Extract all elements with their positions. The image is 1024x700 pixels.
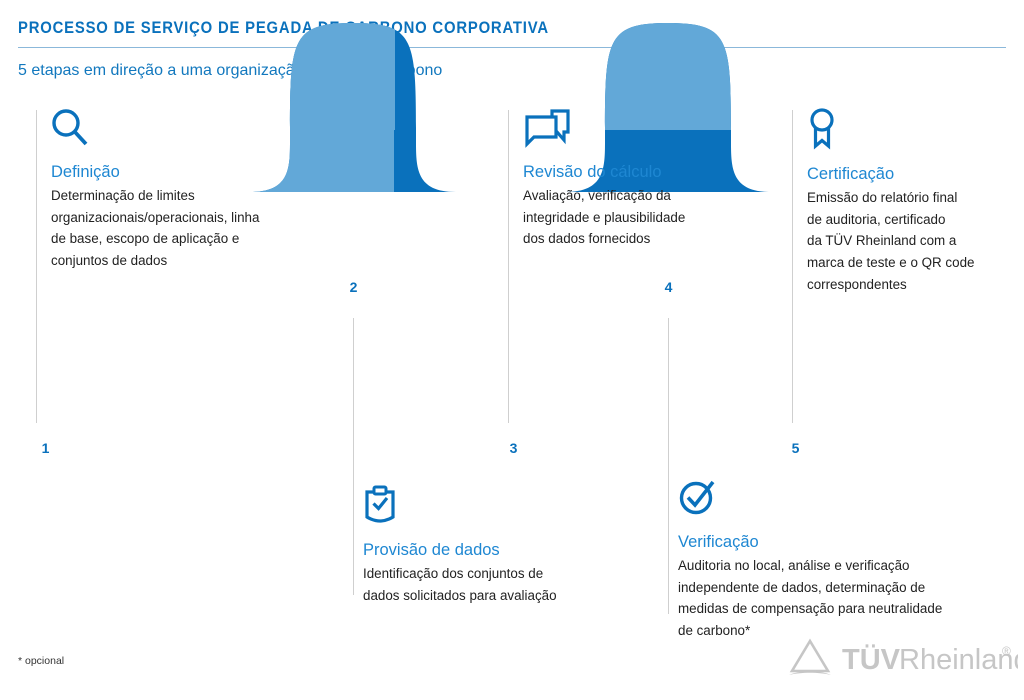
clipboard-check-icon: [363, 484, 613, 531]
step-block-5: Certificação Emissão do relatório final …: [807, 108, 1022, 296]
step-block-1: Definição Determinação de limites organi…: [51, 108, 341, 272]
infographic-root: PROCESSO DE SERVIÇO DE PEGADA DE CARBONO…: [0, 0, 1024, 700]
step-badge-4: 4: [656, 274, 681, 299]
step-desc-4: Auditoria no local, análise e verificaçã…: [678, 555, 1018, 642]
step-badge-1: 1: [33, 435, 58, 460]
step-block-4: Verificação Auditoria no local, análise …: [678, 478, 1018, 642]
step-badge-5-label: 5: [792, 441, 800, 455]
tuv-rheinland-logo: TÜV Rheinland ®: [786, 637, 1018, 688]
step-badge-1-label: 1: [42, 441, 50, 455]
step-badge-5: 5: [783, 435, 808, 460]
step-badge-4-label: 4: [665, 280, 673, 294]
step-badge-2-label: 2: [350, 280, 358, 294]
step-desc-3: Avaliação, verificação da integridade e …: [523, 185, 773, 250]
step-badge-2: 2: [341, 274, 366, 299]
speech-bubbles-icon: [523, 108, 773, 153]
step-title-1: Definição: [51, 163, 341, 182]
connector-line-step-2: [353, 318, 354, 595]
logo-registered-mark: ®: [1002, 644, 1011, 658]
step-desc-1: Determinação de limites organizacionais/…: [51, 185, 341, 272]
step-title-3: Revisão do cálculo: [523, 163, 773, 182]
step-badge-3-label: 3: [510, 441, 518, 455]
tuv-triangle-icon: [789, 641, 831, 675]
step-title-4: Verificação: [678, 533, 1018, 552]
step-title-2: Provisão de dados: [363, 541, 613, 560]
connector-line-step-4: [668, 318, 669, 614]
logo-name-regular: Rheinland: [899, 644, 1018, 676]
step-badge-3: 3: [501, 435, 526, 460]
logo-name-bold: TÜV: [842, 643, 901, 676]
step-block-3: Revisão do cálculo Avaliação, verificaçã…: [523, 108, 773, 250]
step-title-5: Certificação: [807, 165, 1022, 184]
step-desc-5: Emissão do relatório final de auditoria,…: [807, 187, 1022, 296]
footnote-optional: * opcional: [18, 655, 64, 667]
step-block-2: Provisão de dados Identificação dos conj…: [363, 484, 613, 606]
step-desc-2: Identificação dos conjuntos de dados sol…: [363, 563, 613, 606]
magnifier-icon: [51, 108, 341, 153]
award-seal-icon: [807, 108, 1022, 155]
check-circle-icon: [678, 478, 1018, 523]
